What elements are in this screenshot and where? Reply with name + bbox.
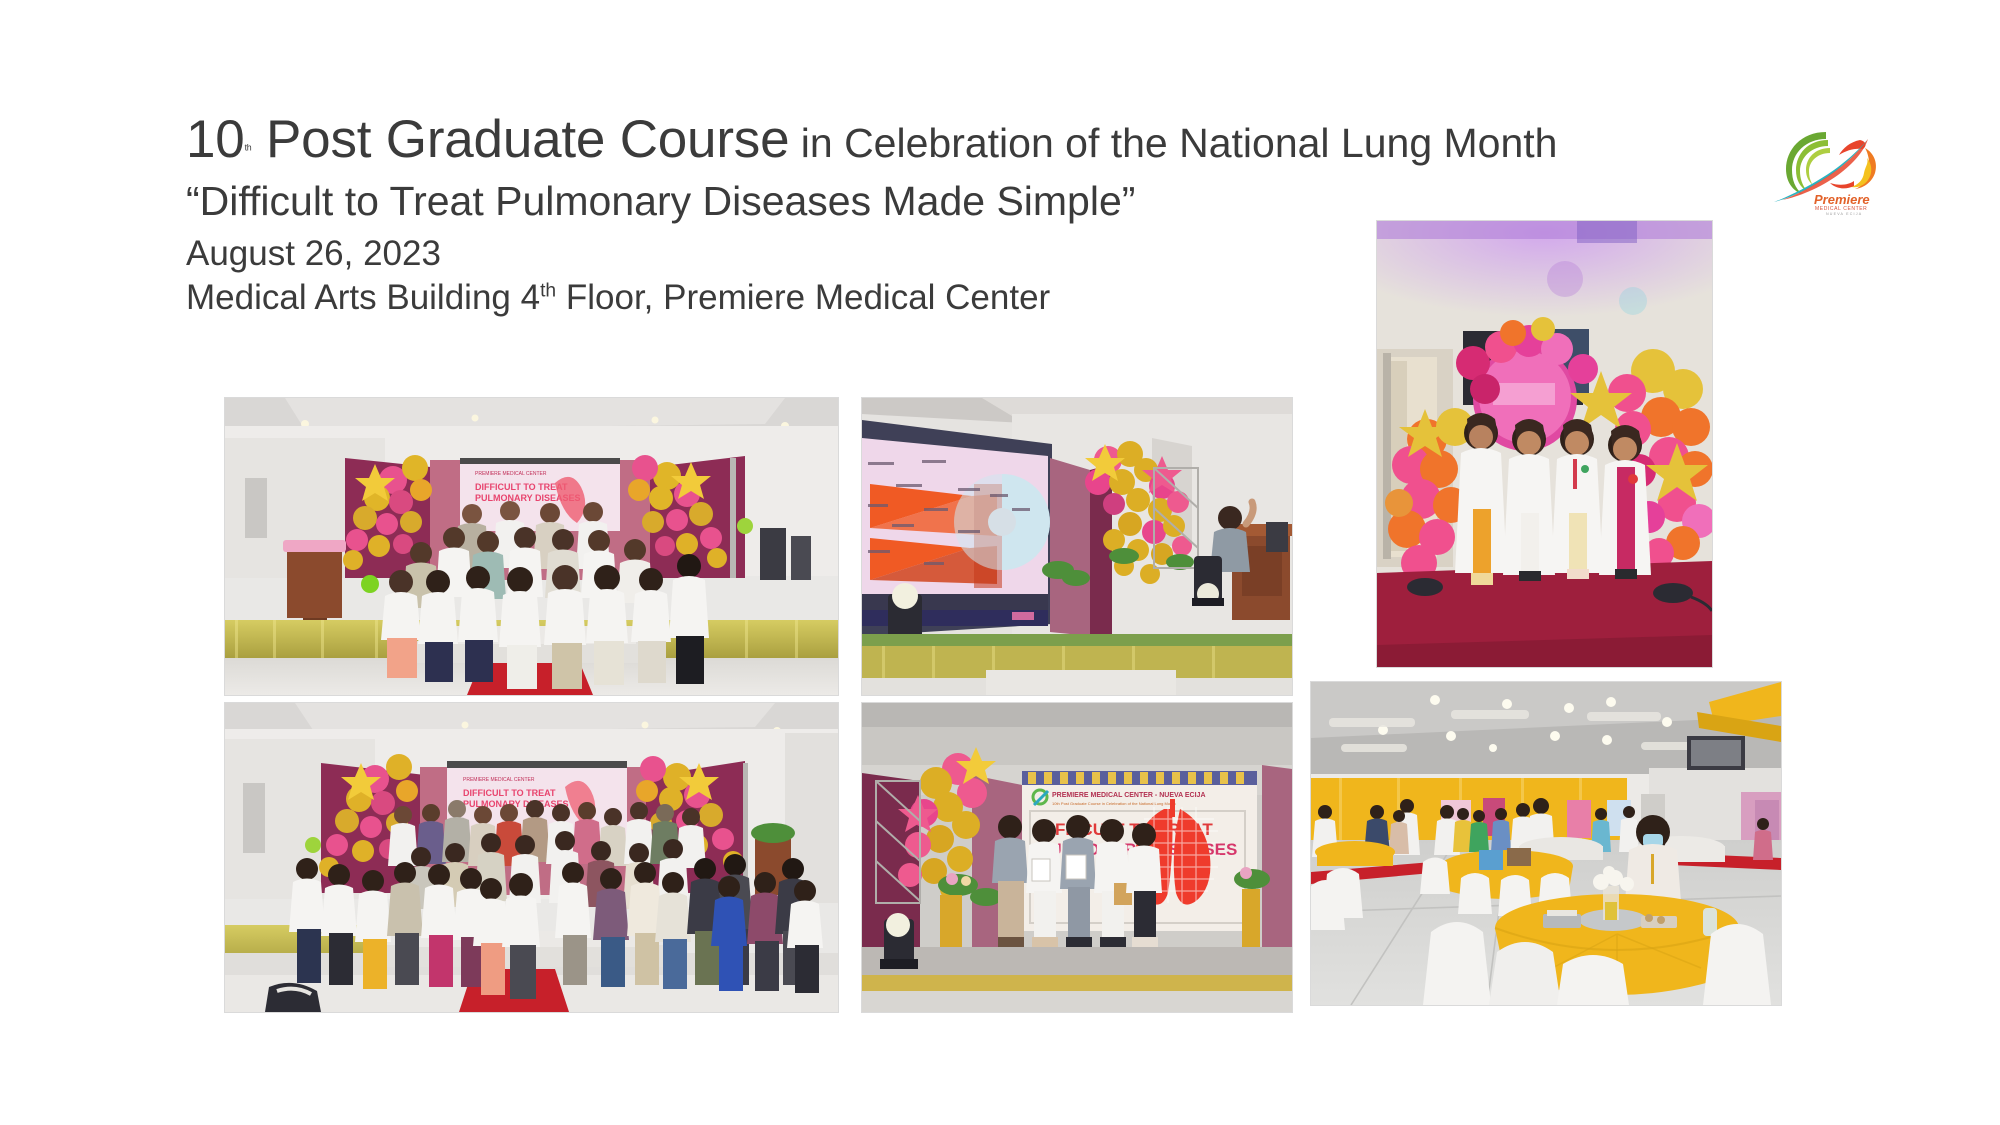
- photo-group-stage: PREMIERE MEDICAL CENTER DIFFICULT TO TRE…: [225, 398, 838, 695]
- photo-large-group-stage: PREMIERE MEDICAL CENTER DIFFICULT TO TRE…: [225, 703, 838, 1012]
- venue-suffix: Floor, Premiere Medical Center: [556, 278, 1050, 317]
- led-title-line1: PREMIERE MEDICAL CENTER - NUEVA ECIJA: [1052, 792, 1206, 799]
- logo-brand-name: Premiere: [1814, 192, 1870, 207]
- title-remainder: in Celebration of the National Lung Mont…: [789, 120, 1557, 166]
- photo-four-doctors-balloon-arch: [1377, 221, 1712, 667]
- page-title: 10th Post Graduate Course in Celebration…: [186, 112, 1806, 168]
- photo-venue-hall: [1311, 682, 1781, 1005]
- svg-text:PREMIERE MEDICAL CENTER: PREMIERE MEDICAL CENTER: [463, 777, 535, 783]
- venue-ordinal-suffix: th: [540, 280, 556, 301]
- svg-text:10th Post Graduate Course in C: 10th Post Graduate Course in Celebration…: [1052, 801, 1176, 806]
- photo-awarding-ceremony: PREMIERE MEDICAL CENTER - NUEVA ECIJA 10…: [862, 703, 1292, 1012]
- page-subtitle: “Difficult to Treat Pulmonary Diseases M…: [186, 179, 1806, 225]
- title-ordinal-number: 10: [186, 110, 245, 169]
- svg-text:PREMIERE MEDICAL CENTER: PREMIERE MEDICAL CENTER: [475, 471, 547, 477]
- photo-speaker-at-podium: [862, 398, 1292, 695]
- venue-prefix: Medical Arts Building 4: [186, 278, 540, 317]
- premiere-medical-center-logo-icon: Premiere MEDICAL CENTER NUEVA ECIJA: [1768, 124, 1896, 216]
- svg-text:DIFFICULT TO TREAT: DIFFICULT TO TREAT: [463, 788, 556, 798]
- logo-brand-tag: NUEVA ECIJA: [1826, 212, 1862, 216]
- title-ordinal-suffix: th: [245, 143, 252, 153]
- slide-canvas: 10th Post Graduate Course in Celebration…: [0, 0, 2000, 1125]
- svg-text:DIFFICULT TO TREAT: DIFFICULT TO TREAT: [475, 482, 568, 492]
- title-emphasis: Post Graduate Course: [252, 110, 790, 169]
